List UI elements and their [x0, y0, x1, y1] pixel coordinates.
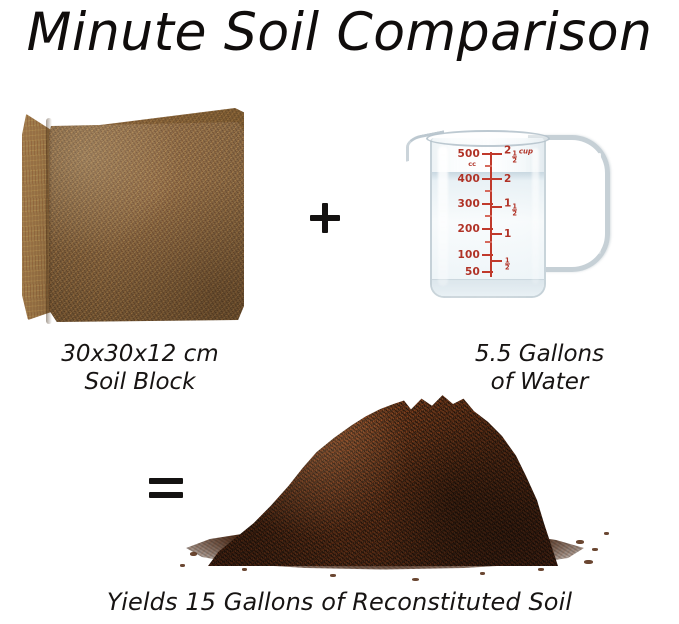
scale-label-500: 500 — [457, 148, 480, 160]
yield-caption: Yields 15 Gallons of Reconstituted Soil — [0, 588, 679, 617]
soil-pile-image — [180, 382, 620, 587]
page-title: Minute Soil Comparison — [7, 2, 672, 63]
soil-pile-mound — [208, 388, 558, 566]
plus-icon — [308, 200, 342, 236]
soil-crumb — [480, 572, 485, 575]
scale-tick-350 — [485, 190, 492, 192]
scale-tick-200 — [482, 228, 493, 230]
soil-crumb — [604, 532, 609, 535]
scale-label-cup-2: 2 — [504, 173, 511, 185]
scale-tick-250 — [485, 215, 492, 217]
soil-crumb — [180, 564, 185, 567]
equals-icon-bottom-bar — [149, 492, 183, 498]
scale-label-400: 400 — [457, 173, 480, 185]
scale-unit-cc: cc — [468, 160, 476, 168]
scale-tick-cup-0-5 — [492, 260, 502, 262]
equals-icon-top-bar — [149, 478, 183, 484]
scale-tick-300 — [482, 203, 493, 205]
scale-tick-cup-1 — [492, 233, 502, 235]
scale-label-cup-1-5: 112 — [504, 197, 518, 216]
scale-tick-100 — [482, 254, 493, 256]
scale-tick-150 — [485, 241, 492, 243]
soil-crumb — [538, 568, 544, 571]
soil-crumb — [330, 574, 336, 577]
scale-label-50: 50 — [465, 266, 480, 278]
scale-label-cup-2-5: 212cup — [504, 144, 533, 163]
scale-label-300: 300 — [457, 198, 480, 210]
scale-tick-450 — [485, 165, 492, 167]
soil-crumb — [190, 552, 197, 556]
measuring-cup-image: 500 cc 400 300 200 100 50 212cup 2 112 — [404, 118, 644, 303]
soil-crumb — [584, 560, 593, 564]
scale-label-200: 200 — [457, 223, 480, 235]
scale-tick-cup-1-5 — [492, 206, 502, 208]
soil-block-edge-shadow — [46, 118, 52, 324]
soil-block-front-face — [49, 122, 244, 322]
measuring-cup-scale: 500 cc 400 300 200 100 50 212cup 2 112 — [430, 138, 546, 298]
scale-label-cup-0-5: 12 — [504, 251, 511, 270]
soil-block-caption-line-1: 30x30x12 cm — [0, 340, 280, 368]
scale-label-100: 100 — [457, 249, 480, 261]
scale-tick-cup-2 — [492, 178, 502, 180]
soil-crumb — [576, 540, 584, 544]
scale-tick-50 — [482, 271, 493, 273]
scale-unit-cup: cup — [519, 147, 533, 155]
water-caption-line-1: 5.5 Gallons — [400, 340, 679, 368]
plus-icon-vertical-bar — [322, 203, 328, 233]
soil-crumb — [412, 578, 419, 581]
soil-crumb — [592, 548, 598, 551]
scale-tick-cup-2-5 — [492, 153, 502, 155]
scale-label-cup-1: 1 — [504, 228, 511, 240]
infographic-canvas: Minute Soil Comparison 500 cc 400 — [0, 0, 679, 624]
soil-block-image — [22, 108, 244, 322]
equals-icon — [149, 475, 183, 505]
soil-crumb — [242, 568, 247, 571]
